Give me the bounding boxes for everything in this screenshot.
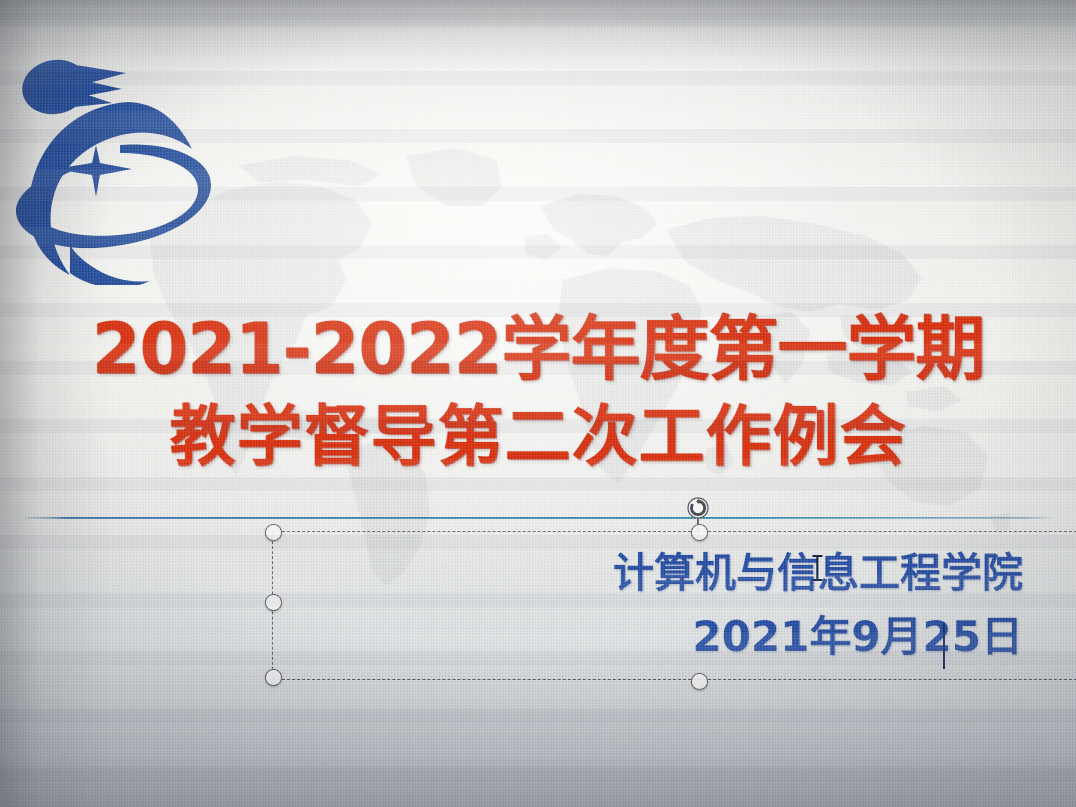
slide-photo-stage: 2021-2022学年度第一学期 教学督导第二次工作例会 计算机与信息工程学院 … — [0, 0, 1076, 807]
slide-title-block: 2021-2022学年度第一学期 教学督导第二次工作例会 — [0, 305, 1076, 481]
slide-title-line-1: 2021-2022学年度第一学期 — [0, 305, 1076, 393]
handle-middle-left[interactable] — [265, 594, 282, 611]
slide-title-line-2: 教学督导第二次工作例会 — [0, 393, 1076, 481]
text-caret — [943, 623, 945, 669]
subtitle-text-box[interactable]: 计算机与信息工程学院 2021年9月25日 — [272, 531, 1076, 680]
i-beam-cursor — [812, 553, 823, 583]
horizontal-rule — [25, 517, 1056, 519]
university-emblem-logo — [8, 45, 223, 285]
handle-top-center[interactable] — [691, 524, 708, 541]
handle-top-left[interactable] — [265, 524, 282, 541]
subtitle-line-date: 2021年9月25日 — [613, 605, 1023, 668]
handle-bottom-left[interactable] — [265, 669, 282, 686]
rotate-handle-icon[interactable] — [687, 497, 709, 519]
handle-bottom-center[interactable] — [691, 673, 708, 690]
